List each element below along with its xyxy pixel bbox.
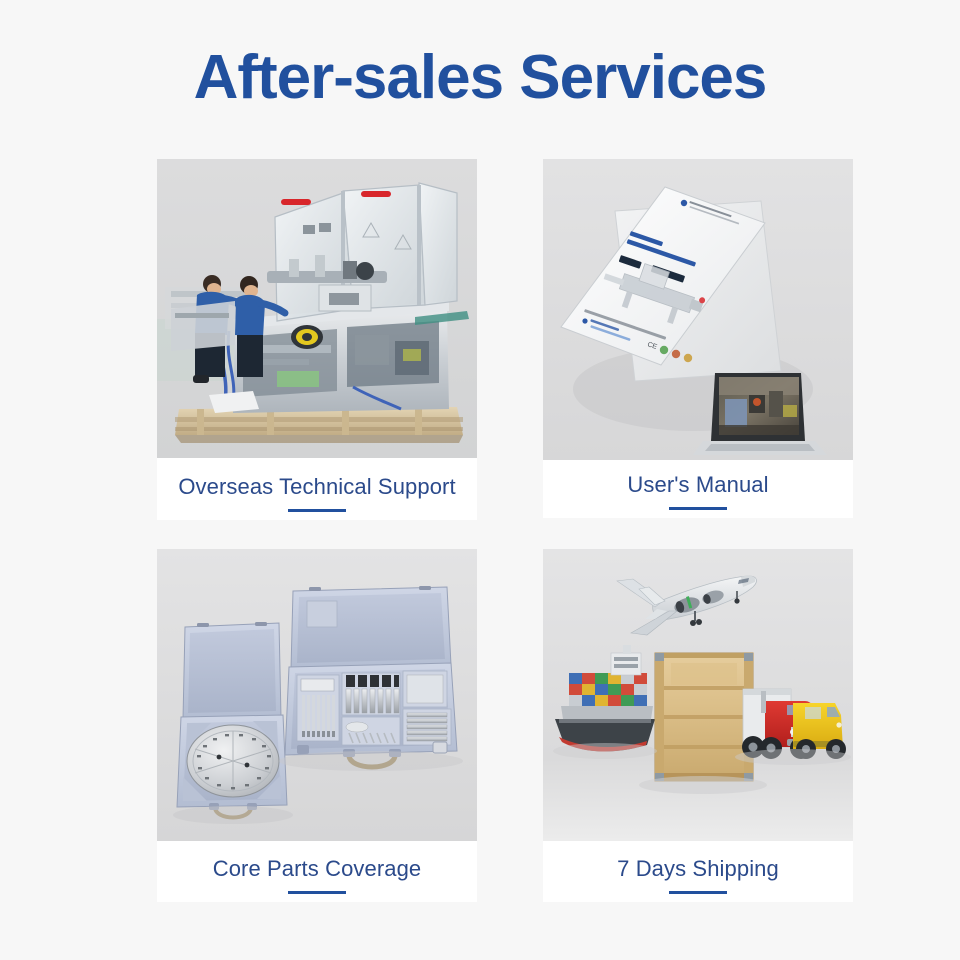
card-underline-coreparts xyxy=(288,891,346,894)
user-manual-photo: CE xyxy=(543,159,853,460)
service-card-7-days-shipping[interactable]: 7 Days Shipping xyxy=(543,549,853,902)
card-label-shipping: 7 Days Shipping xyxy=(543,841,853,902)
shipping-logistics-photo xyxy=(543,549,853,841)
card-label-coreparts: Core Parts Coverage xyxy=(157,841,477,902)
card-label-overseas: Overseas Technical Support xyxy=(157,458,477,520)
service-card-users-manual[interactable]: CE xyxy=(543,159,853,518)
card-label-text-shipping: 7 Days Shipping xyxy=(543,856,853,882)
card-label-text-manual: User's Manual xyxy=(543,472,853,498)
card-underline-manual xyxy=(669,507,727,510)
service-card-core-parts-coverage[interactable]: Core Parts Coverage xyxy=(157,549,477,902)
card-media-shipping xyxy=(543,549,853,841)
service-card-overseas-technical-support[interactable]: Overseas Technical Support xyxy=(157,159,477,520)
card-label-text-coreparts: Core Parts Coverage xyxy=(157,856,477,882)
packaging-machine-photo xyxy=(157,159,477,458)
services-card-grid: Overseas Technical Support xyxy=(0,0,960,960)
card-media-overseas xyxy=(157,159,477,458)
card-underline-overseas xyxy=(288,509,346,512)
card-media-manual: CE xyxy=(543,159,853,460)
card-label-text-overseas: Overseas Technical Support xyxy=(157,474,477,500)
card-underline-shipping xyxy=(669,891,727,894)
card-media-coreparts xyxy=(157,549,477,841)
card-label-manual: User's Manual xyxy=(543,460,853,518)
core-parts-photo xyxy=(157,549,477,841)
